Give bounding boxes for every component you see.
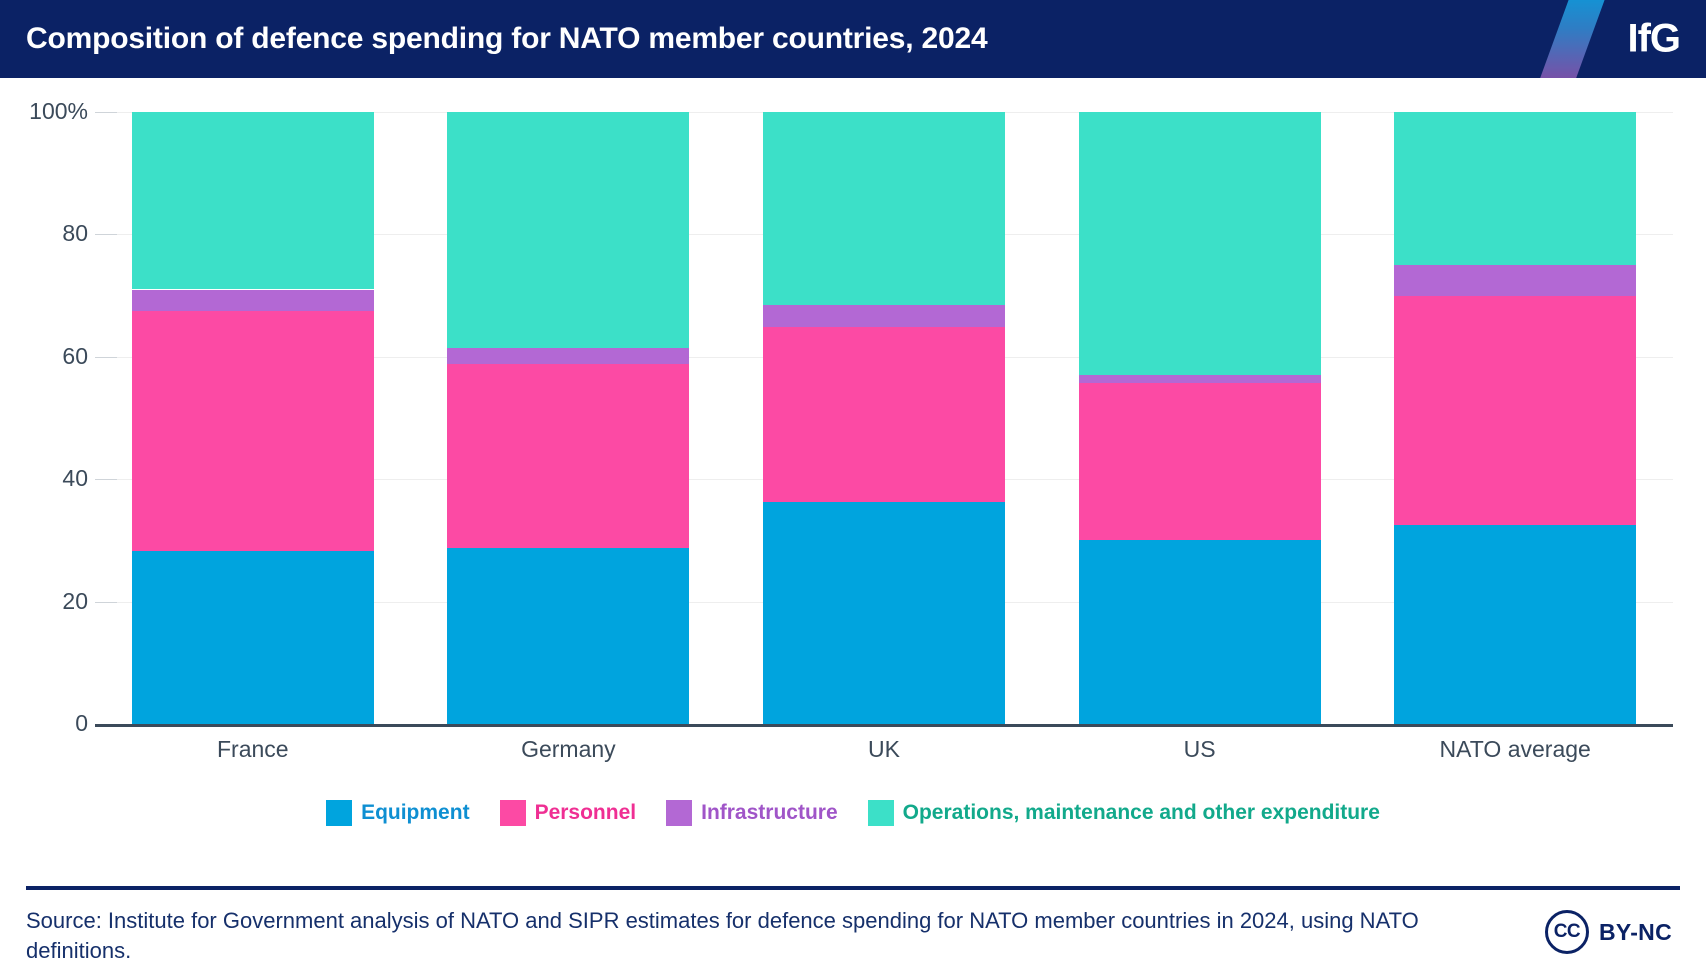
y-axis-tick-label: 20	[0, 590, 88, 613]
chart-container: 020406080100% FranceGermanyUKUSNATO aver…	[0, 78, 1706, 778]
bar-segment[interactable]	[763, 327, 1005, 502]
bar-segment[interactable]	[763, 305, 1005, 328]
licence-label: BY-NC	[1599, 919, 1672, 946]
chart-page: Composition of defence spending for NATO…	[0, 0, 1706, 974]
x-axis-label-uk: UK	[734, 736, 1034, 763]
y-axis-tick-label: 0	[0, 712, 88, 735]
bar-segment[interactable]	[447, 112, 689, 348]
page-footer: Source: Institute for Government analysi…	[26, 900, 1680, 970]
brand-stripe-icon	[1523, 0, 1614, 78]
y-axis-tick-mark	[95, 112, 117, 113]
y-axis-tick-label: 60	[0, 345, 88, 368]
y-axis-tick-mark	[95, 234, 117, 235]
y-axis-tick-mark	[95, 602, 117, 603]
legend-label: Infrastructure	[701, 801, 838, 825]
x-axis-label-germany: Germany	[418, 736, 718, 763]
bar-segment[interactable]	[1079, 540, 1321, 724]
bar-segment[interactable]	[763, 502, 1005, 724]
bar-segment[interactable]	[1079, 112, 1321, 375]
bar-segment[interactable]	[1394, 265, 1636, 296]
bar-segment[interactable]	[1394, 296, 1636, 526]
source-note: Source: Institute for Government analysi…	[26, 906, 1446, 966]
legend-item[interactable]: Operations, maintenance and other expend…	[868, 800, 1380, 826]
bar-france[interactable]	[132, 112, 374, 724]
x-axis-line	[95, 724, 1673, 727]
bar-us[interactable]	[1079, 112, 1321, 724]
legend-item[interactable]: Infrastructure	[666, 800, 838, 826]
bar-segment[interactable]	[1079, 383, 1321, 541]
x-axis-label-france: France	[103, 736, 403, 763]
page-title: Composition of defence spending for NATO…	[26, 22, 987, 56]
page-header: Composition of defence spending for NATO…	[0, 0, 1706, 78]
footer-divider	[26, 886, 1680, 890]
legend-swatch-icon	[500, 800, 526, 826]
y-axis-tick-label: 40	[0, 467, 88, 490]
bar-segment[interactable]	[1394, 525, 1636, 724]
ifg-logo: IfG	[1627, 17, 1680, 62]
bar-segment[interactable]	[1079, 375, 1321, 382]
chart-legend: EquipmentPersonnelInfrastructureOperatio…	[0, 800, 1706, 826]
bar-segment[interactable]	[447, 348, 689, 365]
bar-segment[interactable]	[132, 290, 374, 311]
legend-swatch-icon	[326, 800, 352, 826]
x-axis-label-us: US	[1050, 736, 1350, 763]
y-axis-tick-mark	[95, 479, 117, 480]
bar-segment[interactable]	[132, 551, 374, 724]
x-axis-label-nato-average: NATO average	[1365, 736, 1665, 763]
bar-segment[interactable]	[447, 364, 689, 548]
creative-commons-badge: CC BY-NC	[1545, 910, 1672, 954]
bar-segment[interactable]	[763, 112, 1005, 305]
bar-uk[interactable]	[763, 112, 1005, 724]
legend-swatch-icon	[666, 800, 692, 826]
plot-area	[95, 112, 1673, 724]
y-axis-tick-mark	[95, 357, 117, 358]
y-axis-tick-label: 80	[0, 222, 88, 245]
legend-item[interactable]: Equipment	[326, 800, 470, 826]
bar-segment[interactable]	[132, 112, 374, 289]
bar-segment[interactable]	[1394, 112, 1636, 265]
legend-label: Personnel	[535, 801, 637, 825]
legend-swatch-icon	[868, 800, 894, 826]
legend-label: Equipment	[361, 801, 470, 825]
y-axis-tick-label: 100%	[0, 100, 88, 123]
bar-segment[interactable]	[132, 311, 374, 551]
bar-germany[interactable]	[447, 112, 689, 724]
bar-nato-average[interactable]	[1394, 112, 1636, 724]
legend-item[interactable]: Personnel	[500, 800, 637, 826]
bar-segment[interactable]	[447, 548, 689, 724]
legend-label: Operations, maintenance and other expend…	[903, 801, 1380, 825]
cc-icon: CC	[1545, 910, 1589, 954]
